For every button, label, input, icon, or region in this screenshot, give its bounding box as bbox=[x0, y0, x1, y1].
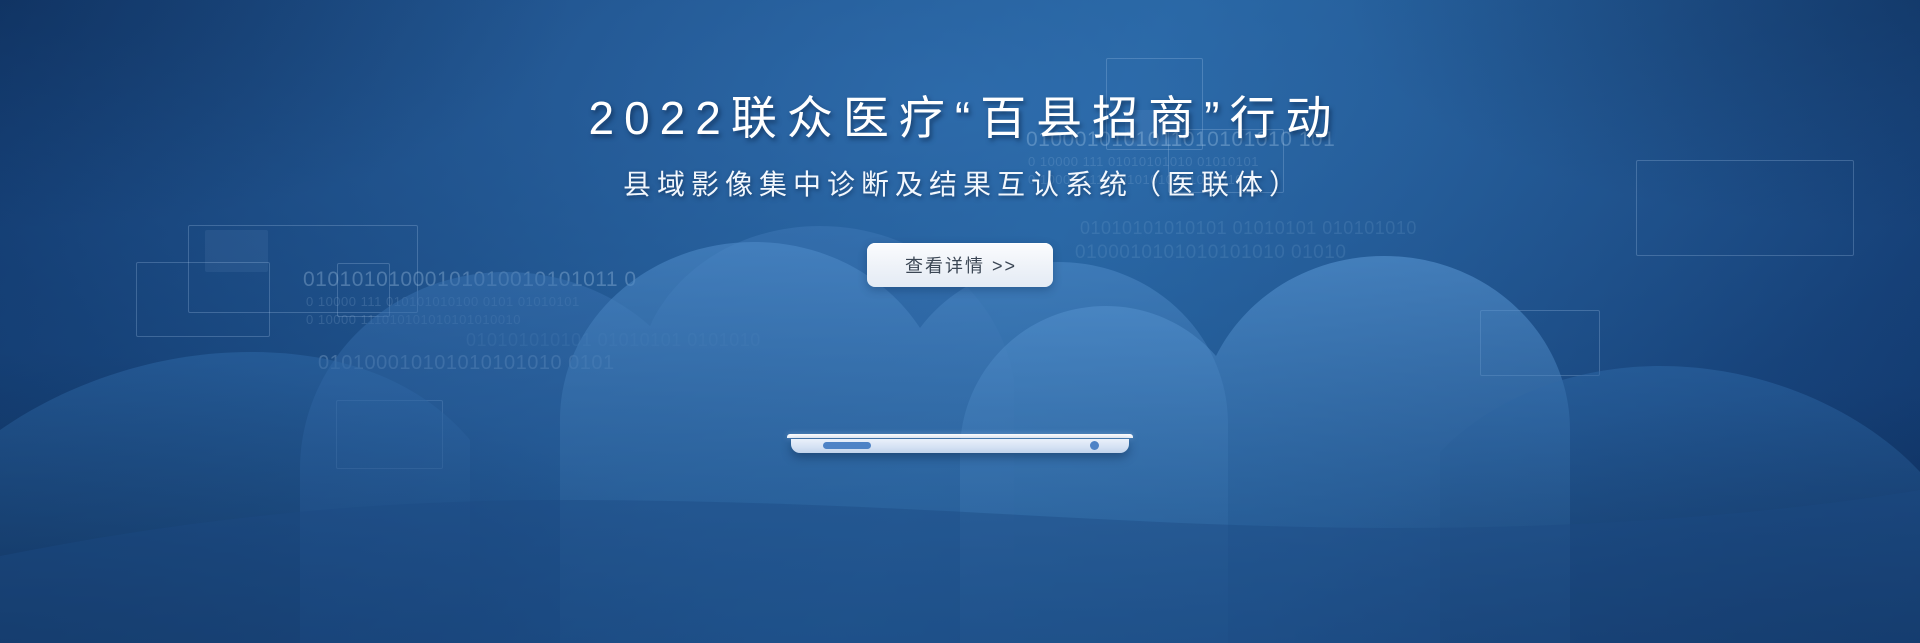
banner-content: 2022联众医疗“百县招商”行动 县域影像集中诊断及结果互认系统（医联体） 查看… bbox=[0, 0, 1920, 643]
banner-subtitle: 县域影像集中诊断及结果互认系统（医联体） bbox=[617, 171, 1303, 199]
view-details-button[interactable]: 查看详情 >> bbox=[867, 243, 1053, 287]
promo-banner: 01010101000101010010101011 0 0 10000 111… bbox=[0, 0, 1920, 643]
banner-title: 2022联众医疗“百县招商”行动 bbox=[579, 95, 1342, 141]
